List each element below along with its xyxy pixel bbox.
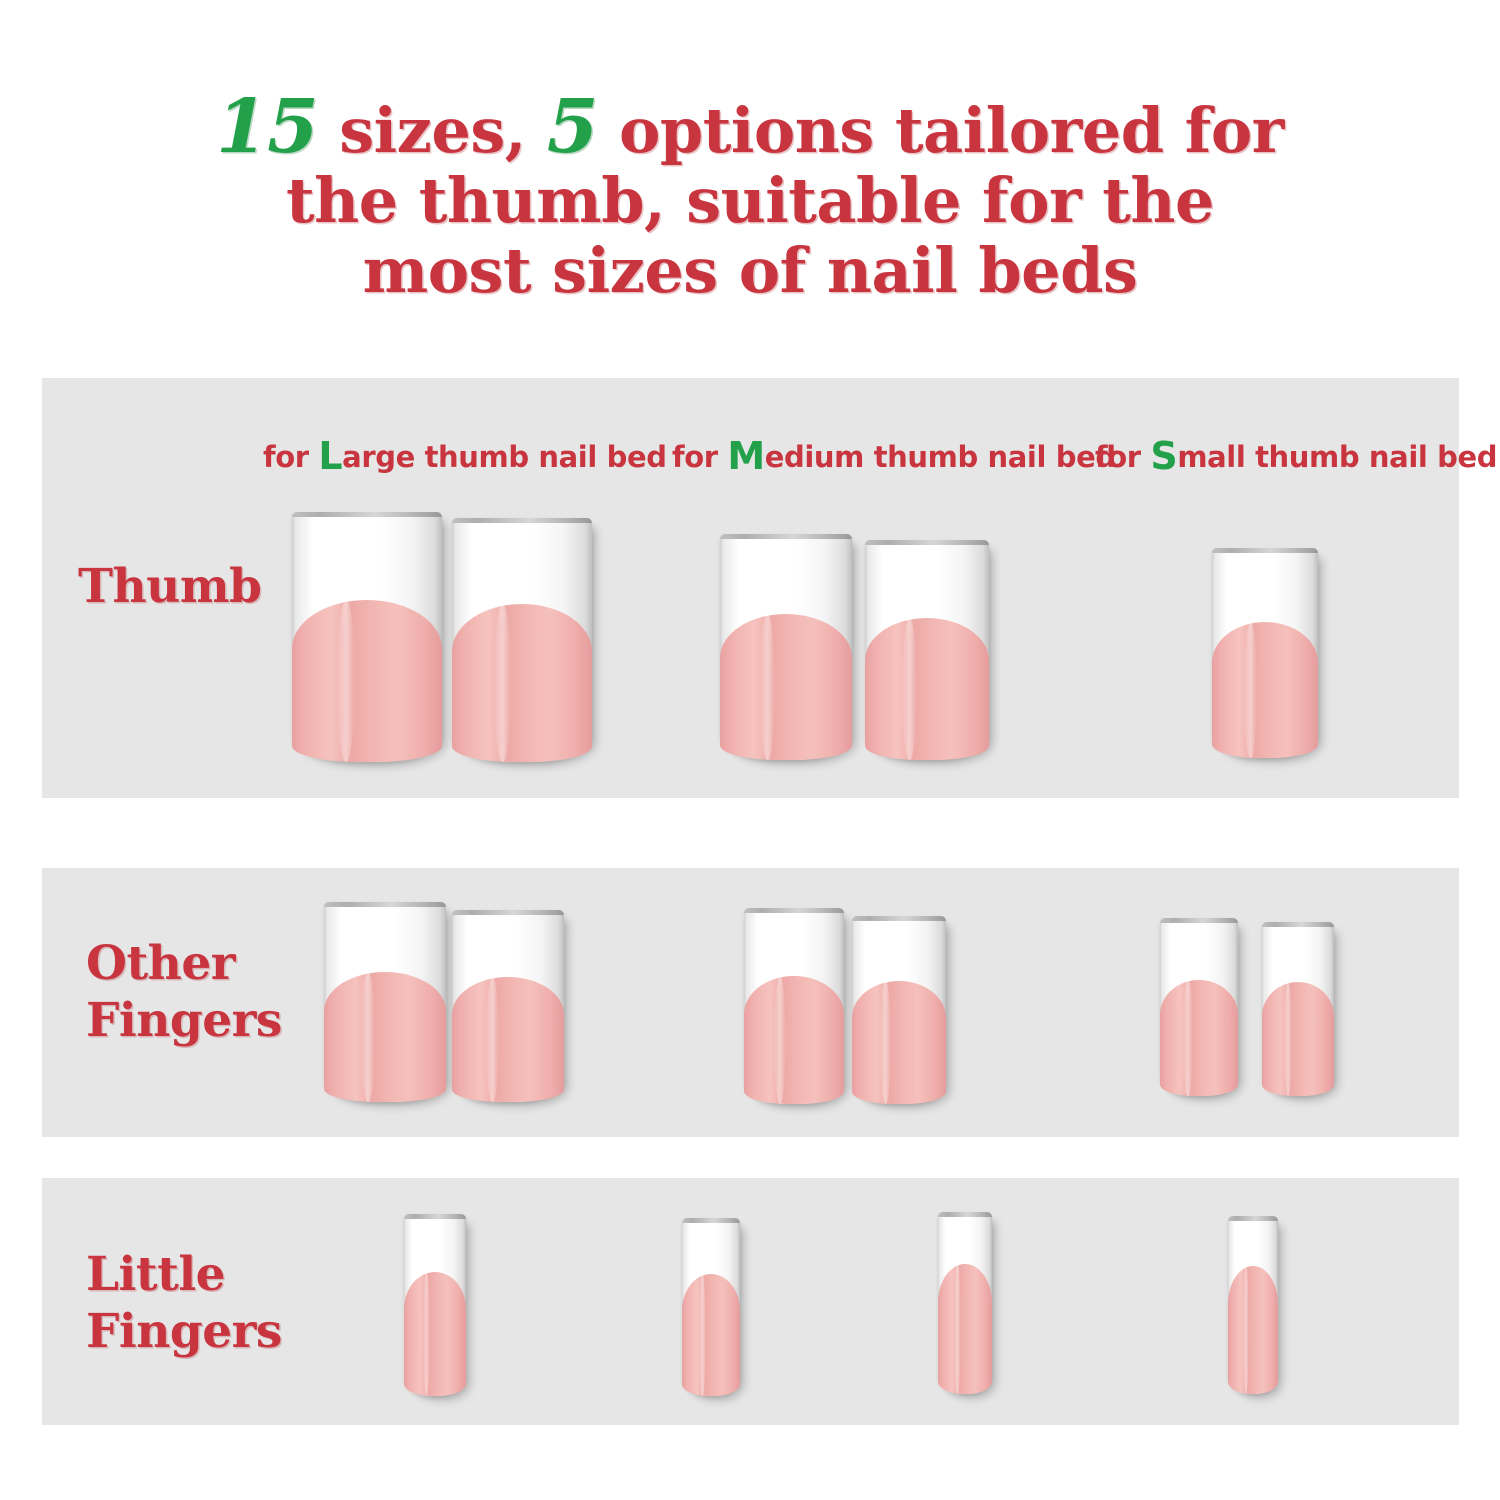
nail-gloss-highlight [361,972,376,1102]
nail-polish-overlay [452,977,564,1102]
nail-little-fingers-2 [682,1218,740,1396]
nail-polish-overlay [452,604,592,762]
nail-little-fingers-4 [1228,1216,1278,1394]
nail-other-fingers-2 [452,910,564,1102]
page-title: 15 sizes, 5 options tailored for the thu… [0,92,1500,306]
nail-top-edge [1212,548,1318,553]
nail-top-edge [1160,918,1238,923]
column-header-large-initial: L [318,434,342,478]
nail-other-fingers-6 [1262,922,1334,1096]
nail-polish-overlay [292,600,442,762]
nail-gloss-highlight [760,614,776,760]
nail-gloss-highlight [774,976,786,1104]
nail-polish-overlay [852,981,946,1104]
nail-gloss-highlight [902,618,917,760]
title-line-3: most sizes of nail beds [0,236,1500,306]
title-line-1-b: options tailored for [598,94,1284,167]
nail-top-edge [744,908,844,913]
title-line-1: 15 sizes, 5 options tailored for [0,92,1500,166]
nail-top-edge [1262,922,1334,927]
nail-other-fingers-3 [744,908,844,1104]
nail-gloss-highlight [954,1264,960,1394]
infographic-canvas: 15 sizes, 5 options tailored for the thu… [0,0,1500,1500]
column-header-medium: for Medium thumb nail bed [672,440,1116,474]
nail-top-edge [292,512,442,517]
nail-other-fingers-5 [1160,918,1238,1096]
nail-top-edge [720,534,852,539]
nail-gloss-highlight [1183,980,1192,1096]
nail-polish-overlay [1262,982,1334,1096]
column-header-small-prefix: for [1095,440,1150,474]
nail-polish-overlay [938,1264,992,1394]
nail-little-fingers-1 [404,1214,466,1396]
nail-gloss-highlight [1284,982,1293,1096]
nail-gloss-highlight [486,977,499,1102]
column-header-small-rest: mall thumb nail bed [1177,440,1497,474]
nail-gloss-highlight [423,1272,430,1396]
nail-gloss-highlight [699,1274,706,1396]
nail-polish-overlay [1212,622,1318,758]
nail-top-edge [324,902,446,907]
nail-gloss-highlight [494,604,511,762]
nail-polish-overlay [720,614,852,760]
nail-polish-overlay [1228,1266,1278,1394]
nail-top-edge [452,518,592,523]
nail-thumb-4 [865,540,989,760]
nail-thumb-5 [1212,548,1318,758]
nail-top-edge [404,1214,466,1219]
nail-other-fingers-1 [324,902,446,1102]
column-header-medium-rest: edium thumb nail bed [765,440,1116,474]
column-header-medium-prefix: for [672,440,727,474]
nail-thumb-1 [292,512,442,762]
title-number-15: 15 [216,84,318,170]
nail-polish-overlay [324,972,446,1102]
nail-little-fingers-3 [938,1212,992,1394]
nail-thumb-2 [452,518,592,762]
title-number-5: 5 [547,84,598,170]
nail-polish-overlay [1160,980,1238,1096]
column-header-large-rest: arge thumb nail bed [342,440,666,474]
column-header-large: for Large thumb nail bed [263,440,667,474]
nail-top-edge [865,540,989,545]
nail-polish-overlay [682,1274,740,1396]
row-label-other-fingers: Other Fingers [86,935,282,1049]
title-line-1-a: sizes, [318,94,547,167]
nail-top-edge [938,1212,992,1217]
nail-gloss-highlight [1244,622,1257,758]
nail-thumb-3 [720,534,852,760]
nail-other-fingers-4 [852,916,946,1104]
nail-top-edge [1228,1216,1278,1221]
nail-top-edge [852,916,946,921]
nail-polish-overlay [865,618,989,760]
nail-gloss-highlight [880,981,891,1104]
nail-top-edge [452,910,564,915]
row-label-thumb: Thumb [78,558,261,615]
nail-gloss-highlight [1243,1266,1249,1394]
title-line-2: the thumb, suitable for the [0,166,1500,236]
nail-polish-overlay [404,1272,466,1396]
column-header-medium-initial: M [727,434,764,478]
column-header-small-initial: S [1150,434,1177,478]
row-label-little-fingers: Little Fingers [86,1246,282,1360]
nail-gloss-highlight [337,600,355,762]
nail-polish-overlay [744,976,844,1104]
column-header-large-prefix: for [263,440,318,474]
column-header-small: for Small thumb nail bed [1095,440,1497,474]
nail-top-edge [682,1218,740,1223]
